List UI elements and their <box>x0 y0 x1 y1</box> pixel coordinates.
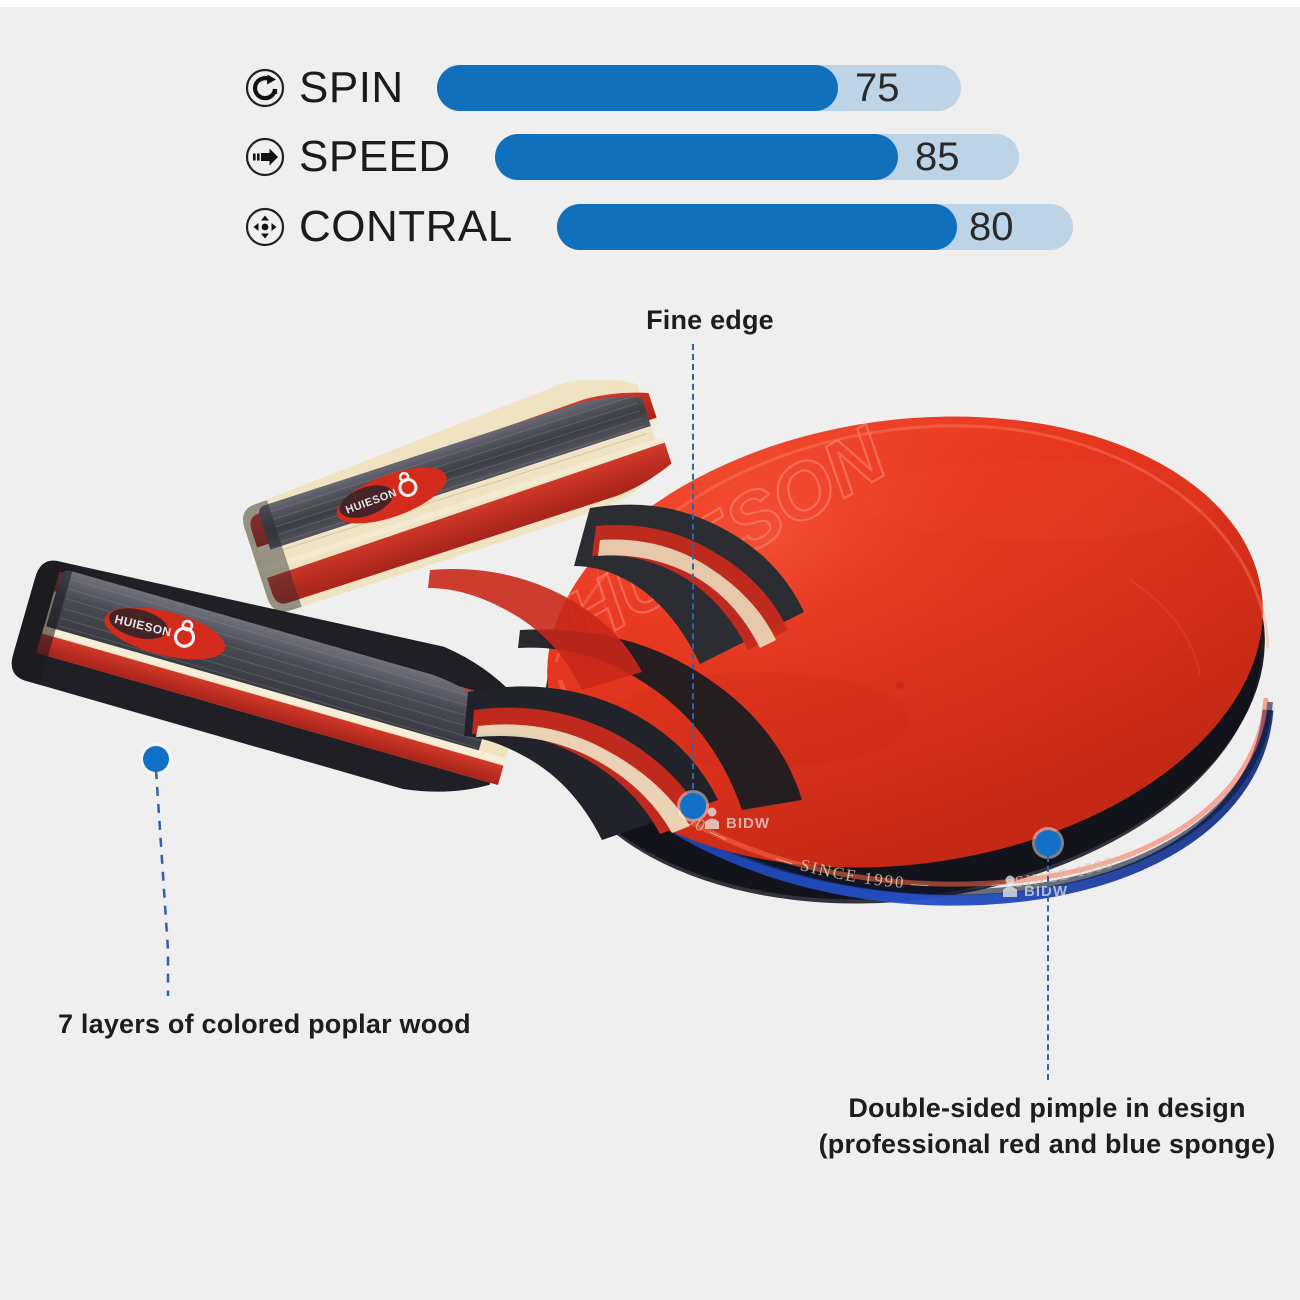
svg-text:BIDW: BIDW <box>1024 883 1068 900</box>
stat-label-spin: SPIN <box>299 66 404 110</box>
stat-row-speed: SPEED <box>245 131 451 183</box>
stat-bar-track-speed: 85 <box>495 134 1019 180</box>
product-infographic: HUIESON — SINCE 1990 — — SINCE 1990 — <box>0 0 1300 1300</box>
stat-label-contral: CONTRAL <box>299 205 513 249</box>
stat-row-contral: CONTRAL <box>245 201 513 253</box>
callout-line-pimple <box>1047 856 1049 1080</box>
callout-dot-pimple <box>1035 830 1061 856</box>
speed-arrow-icon <box>245 137 285 177</box>
stat-label-speed: SPEED <box>299 135 451 179</box>
callout-line-poplar-wood <box>110 770 180 1000</box>
top-white-strip <box>0 0 1300 7</box>
callout-dot-poplar-wood <box>143 746 169 772</box>
stat-bar-track-spin: 75 <box>437 65 961 111</box>
stat-value-contral: 80 <box>969 204 1014 250</box>
callout-line-fine-edge <box>692 344 694 799</box>
table-tennis-paddle-photo: HUIESON — SINCE 1990 — — SINCE 1990 — <box>0 380 1300 980</box>
stat-bar-track-contral: 80 <box>557 204 1073 250</box>
stat-value-speed: 85 <box>915 134 960 180</box>
stat-bar-fill-spin <box>437 65 838 111</box>
stat-row-spin: SPIN <box>245 62 404 114</box>
callout-label-pimple-line1: Double-sided pimple in design <box>777 1091 1300 1127</box>
spin-rotate-icon <box>245 68 285 108</box>
svg-text:BIDW: BIDW <box>726 815 770 832</box>
control-dpad-icon <box>245 207 285 247</box>
callout-label-pimple-line2: (professional red and blue sponge) <box>777 1127 1300 1163</box>
stat-bar-fill-speed <box>495 134 898 180</box>
stat-bar-fill-contral <box>557 204 957 250</box>
callout-label-fine-edge: Fine edge <box>630 303 790 339</box>
callout-dot-fine-edge <box>680 793 706 819</box>
stat-value-spin: 75 <box>855 65 900 111</box>
callout-label-poplar-wood: 7 layers of colored poplar wood <box>58 1007 471 1043</box>
